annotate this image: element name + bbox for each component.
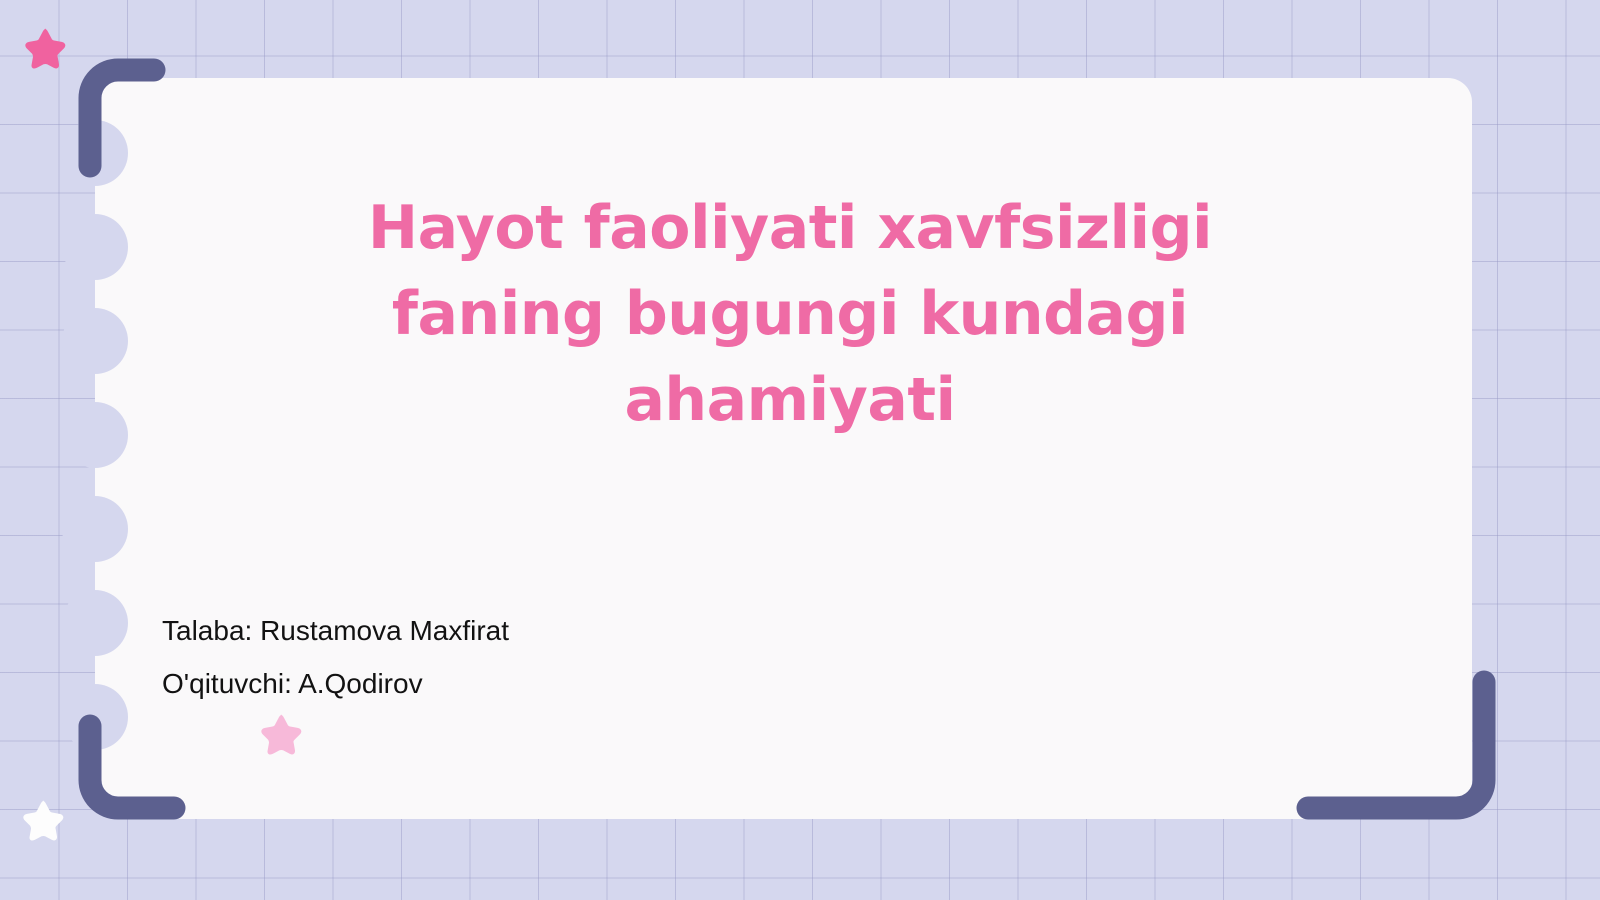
slide-credits: Talaba: Rustamova Maxfirat O'qituvchi: A… — [162, 604, 1062, 710]
slide-title-line-2: faning bugungi kundagi — [300, 271, 1280, 357]
slide-title-line-1: Hayot faoliyati xavfsizligi — [300, 185, 1280, 271]
star-icon-top-left — [22, 26, 66, 70]
student-name-line: Talaba: Rustamova Maxfirat — [162, 604, 1062, 657]
slide-title-line-3: ahamiyati — [300, 357, 1280, 443]
slide-title: Hayot faoliyati xavfsizligi faning bugun… — [300, 185, 1280, 443]
star-icon-bottom-left — [20, 798, 64, 842]
presentation-slide: Hayot faoliyati xavfsizligi faning bugun… — [0, 0, 1600, 900]
teacher-name-line: O'qituvchi: A.Qodirov — [162, 657, 1062, 710]
